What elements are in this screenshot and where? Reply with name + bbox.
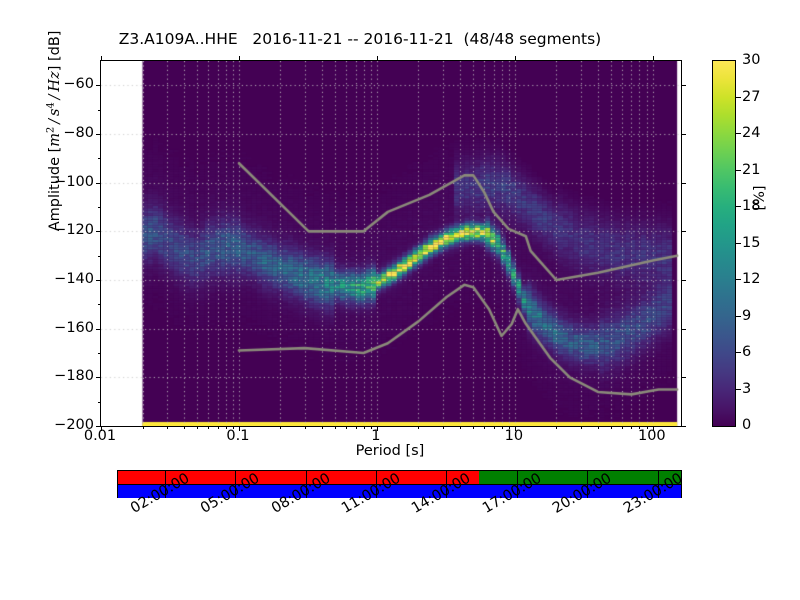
colorbar-tick-label: 15 — [742, 235, 760, 251]
y-tick-mark-right — [681, 426, 686, 427]
y-minor-tick-mark — [98, 158, 101, 159]
y-tick-mark — [96, 377, 101, 378]
timeline-segment[interactable] — [479, 471, 681, 484]
ppsd-histogram-canvas[interactable] — [101, 61, 681, 426]
y-minor-tick-mark — [98, 402, 101, 403]
y-tick-label: −120 — [54, 222, 94, 238]
y-minor-tick-mark — [98, 304, 101, 305]
y-tick-mark — [96, 183, 101, 184]
x-minor-tick-mark — [143, 426, 144, 429]
colorbar-tick-mark — [736, 133, 741, 134]
x-minor-tick-mark — [184, 426, 185, 429]
x-minor-tick-mark — [460, 426, 461, 429]
x-tick-label: 0.01 — [84, 428, 116, 444]
y-tick-mark — [96, 329, 101, 330]
colorbar-tick-mark — [736, 206, 741, 207]
y-tick-label: −160 — [54, 320, 94, 336]
x-tick-label: 0.1 — [226, 428, 249, 444]
x-tick-mark-top — [515, 56, 516, 61]
x-axis-label: Period [s] — [100, 443, 680, 459]
colorbar-tick-label: 24 — [742, 125, 760, 141]
x-tick-mark-top — [653, 56, 654, 61]
colorbar-tick-label: 3 — [742, 381, 751, 397]
x-minor-tick-mark — [418, 426, 419, 429]
y-tick-mark-right — [681, 231, 686, 232]
colorbar-tick-label: 0 — [742, 417, 751, 433]
x-minor-tick-mark — [556, 426, 557, 429]
x-minor-tick-mark — [622, 426, 623, 429]
colorbar-tick-label: 21 — [742, 162, 760, 178]
x-minor-tick-mark — [484, 426, 485, 429]
x-tick-label: 100 — [638, 428, 666, 444]
y-tick-mark-right — [681, 280, 686, 281]
colorbar-tick-label: 6 — [742, 344, 751, 360]
y-tick-mark — [96, 85, 101, 86]
colorbar-tick-label: 27 — [742, 89, 760, 105]
y-minor-tick-mark — [98, 110, 101, 111]
y-axis-label: Amplitude [m2 / s4 / Hz] [dB] — [45, 11, 63, 251]
x-minor-tick-mark — [346, 426, 347, 429]
colorbar-tick-mark — [736, 170, 741, 171]
colorbar[interactable] — [712, 60, 736, 427]
y-minor-tick-mark — [98, 256, 101, 257]
colorbar-tick-mark — [736, 279, 741, 280]
y-tick-mark — [96, 231, 101, 232]
y-tick-label: −180 — [54, 368, 94, 384]
y-axis-label-suffix: ] [dB] — [47, 31, 63, 72]
x-minor-tick-mark — [305, 426, 306, 429]
y-tick-mark-right — [681, 134, 686, 135]
y-tick-mark — [96, 134, 101, 135]
y-minor-tick-mark — [98, 207, 101, 208]
x-minor-tick-mark — [208, 426, 209, 429]
page-title: Z3.A109A..HHE 2016-11-21 -- 2016-11-21 (… — [0, 30, 720, 48]
colorbar-tick-label: 12 — [742, 271, 760, 287]
x-minor-tick-mark — [631, 426, 632, 429]
colorbar-tick-mark — [736, 316, 741, 317]
x-minor-tick-mark — [443, 426, 444, 429]
y-tick-label: −60 — [63, 76, 94, 92]
x-minor-tick-mark — [322, 426, 323, 429]
y-tick-label: −80 — [63, 125, 94, 141]
y-minor-tick-mark — [98, 353, 101, 354]
x-minor-tick-mark — [167, 426, 168, 429]
x-minor-tick-mark — [356, 426, 357, 429]
x-minor-tick-mark — [364, 426, 365, 429]
x-minor-tick-mark — [280, 426, 281, 429]
y-tick-mark-right — [681, 85, 686, 86]
x-minor-tick-mark — [502, 426, 503, 429]
colorbar-tick-mark — [736, 243, 741, 244]
y-tick-label: −100 — [54, 174, 94, 190]
x-minor-tick-mark — [611, 426, 612, 429]
colorbar-tick-mark — [736, 352, 741, 353]
y-tick-mark-right — [681, 329, 686, 330]
y-axis-label-math: m2 / s4 / Hz — [47, 71, 63, 146]
y-tick-mark — [96, 280, 101, 281]
y-tick-mark-right — [681, 377, 686, 378]
x-minor-tick-mark — [598, 426, 599, 429]
x-minor-tick-mark — [218, 426, 219, 429]
colorbar-gradient — [713, 61, 735, 426]
colorbar-tick-label: 18 — [742, 198, 760, 214]
x-minor-tick-mark — [581, 426, 582, 429]
x-minor-tick-mark — [197, 426, 198, 429]
colorbar-tick-label: 30 — [742, 52, 760, 68]
colorbar-tick-mark — [736, 389, 741, 390]
y-tick-label: −140 — [54, 271, 94, 287]
x-minor-tick-mark — [335, 426, 336, 429]
x-tick-mark-top — [377, 56, 378, 61]
colorbar-tick-label: 9 — [742, 308, 751, 324]
x-tick-mark-top — [101, 56, 102, 61]
y-tick-mark-right — [681, 183, 686, 184]
x-tick-label: 10 — [505, 428, 523, 444]
x-minor-tick-mark — [473, 426, 474, 429]
ppsd-axes[interactable] — [100, 60, 682, 427]
x-tick-label: 1 — [371, 428, 380, 444]
x-tick-mark-top — [239, 56, 240, 61]
ppsd-figure: Z3.A109A..HHE 2016-11-21 -- 2016-11-21 (… — [0, 0, 800, 600]
colorbar-tick-mark — [736, 97, 741, 98]
x-minor-tick-mark — [494, 426, 495, 429]
